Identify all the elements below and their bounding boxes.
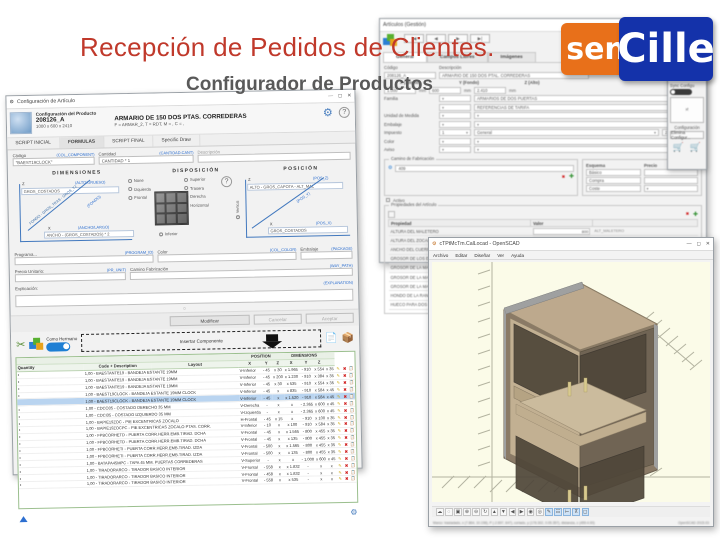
row-copy-icon[interactable]: 📋 xyxy=(350,421,355,426)
cad-close-icon[interactable]: ✕ xyxy=(706,241,710,247)
tab-script-inicial[interactable]: SCRIPT INICIAL xyxy=(7,137,60,149)
row-delete-icon[interactable]: ✖ xyxy=(343,421,348,426)
row-delete-icon[interactable]: ✖ xyxy=(342,366,347,371)
explicacion-tag: (EXPLANATION) xyxy=(323,280,353,286)
impuesto-code-select[interactable]: 1 xyxy=(439,129,471,136)
radio-izquierda-label: Izquierda xyxy=(134,186,151,191)
cad-window-title: cTPtMcTm.CalLocad - OpenSCAD xyxy=(439,241,686,247)
propiedades-caption: Propiedades del Artículo xyxy=(389,202,438,207)
config-header-dims: 1000 x 600 x 2410 xyxy=(36,123,97,129)
col-propiedad: Propiedad xyxy=(389,220,531,227)
esquema-label: Esquema xyxy=(586,163,640,168)
row-delete-icon[interactable]: ✖ xyxy=(344,442,349,447)
row-edit-icon[interactable]: ✎ xyxy=(338,476,343,481)
esquema-basico-label: Básico xyxy=(586,169,641,176)
modificar-action-button[interactable]: Modificar xyxy=(170,315,250,327)
cancelar-action-button[interactable]: Cancelar xyxy=(254,314,302,325)
view-right-icon[interactable]: ▶ xyxy=(518,508,526,516)
propiedades-toolbar[interactable]: ✖ ✚ xyxy=(388,211,698,218)
zoom-fit-icon[interactable]: ▣ xyxy=(454,508,462,516)
view-left-icon[interactable]: ◀ xyxy=(509,508,517,516)
view-top-icon[interactable]: ▲ xyxy=(491,508,499,516)
tab-formulas[interactable]: FORMULAS xyxy=(60,137,104,149)
menu-ayuda[interactable]: Ayuda xyxy=(511,253,524,258)
camino-fabricacion-group[interactable]: Camino de Fabricación ⚙ 409 ✖ ✚ xyxy=(384,159,578,196)
disposicion-left-options[interactable]: None Izquierda Frontal xyxy=(128,178,151,204)
radio-trasera[interactable]: Trasera xyxy=(184,185,209,190)
cad-titlebar: ⚙ cTPtMcTm.CalLocad - OpenSCAD — ◻ ✕ xyxy=(429,238,713,251)
aviso-label: Aviso xyxy=(384,147,436,152)
embalaje-label: Embalaje xyxy=(384,122,436,127)
camino-input[interactable]: 409 xyxy=(395,165,574,172)
row-dim-z: x xyxy=(327,476,337,483)
row-copy-icon[interactable]: 📋 xyxy=(350,435,355,440)
radio-trasera-label: Trasera xyxy=(190,185,204,190)
color-label: Color xyxy=(384,139,436,144)
row-edit-icon[interactable]: ✎ xyxy=(337,435,342,440)
sidebar-furniture-icons[interactable]: 🛒 🛒 xyxy=(670,142,704,153)
menu-archivo[interactable]: Archivo xyxy=(433,253,448,258)
col-valor: Valor xyxy=(531,220,593,227)
configuracion-preview[interactable]: 🖹 xyxy=(670,97,704,123)
row-copy-icon[interactable]: 📋 xyxy=(350,456,355,461)
embalaje-select[interactable] xyxy=(439,121,471,128)
show-edges-icon[interactable]: ✎ xyxy=(545,508,553,516)
row-copy-icon[interactable]: 📋 xyxy=(350,428,355,433)
esquema-compra-label: Compra xyxy=(586,177,641,184)
unidad-select[interactable] xyxy=(439,112,471,119)
familia-select[interactable]: ARMARIOS DE DOS PUERTAS xyxy=(474,95,692,102)
menu-disenar[interactable]: Diseñar xyxy=(474,253,490,258)
row-copy-icon[interactable]: 📋 xyxy=(349,401,354,406)
pos-x-tag: (POS_X) xyxy=(316,220,332,225)
row-delete-icon[interactable]: ✖ xyxy=(343,428,348,433)
radio-none-label: None xyxy=(134,178,144,183)
radio-superior-label: Superior xyxy=(190,177,206,182)
row-copy-icon[interactable]: 📋 xyxy=(349,380,354,385)
row-delete-icon[interactable]: ✖ xyxy=(342,380,347,385)
reset-view-icon[interactable]: ↻ xyxy=(481,508,489,516)
row-edit-icon[interactable]: ✎ xyxy=(337,463,342,468)
como-hermano-control[interactable]: Como Hermano xyxy=(46,336,77,352)
row-delete-icon[interactable]: ✖ xyxy=(343,394,348,399)
row-referencia[interactable]: REFERENCIAS DE TARIFA xyxy=(384,104,702,111)
row-copy-icon[interactable]: 📋 xyxy=(349,387,354,392)
radio-frontal[interactable]: Frontal xyxy=(128,195,151,200)
programa-input[interactable] xyxy=(14,255,153,266)
row-edit-icon[interactable]: ✎ xyxy=(337,449,342,454)
row-expander[interactable]: ▪ xyxy=(19,480,86,488)
camino-add-icon[interactable]: ✚ xyxy=(569,173,574,180)
config-articulo-window[interactable]: ⚙ Configuración de Artículo — ◻ ✕ Config… xyxy=(5,89,362,476)
radio-inferior-label: Inferior xyxy=(165,231,178,236)
esquema-coste-select[interactable] xyxy=(644,185,699,192)
disposicion-panel[interactable]: None Izquierda Frontal Superior Trasera … xyxy=(128,174,225,248)
familia-label: Familia xyxy=(384,96,436,101)
dimensiones-panel[interactable]: Z (ALTO/GRUESO) GROS_COSTADOS FONDO - GR… xyxy=(13,176,125,250)
row-copy-icon[interactable]: 📋 xyxy=(350,442,355,447)
dim-x-letter: X xyxy=(48,226,51,231)
cad-app-icon: ⚙ xyxy=(432,241,436,247)
embalaje-desc-select[interactable] xyxy=(474,121,692,128)
radio-frontal-label: Frontal xyxy=(134,195,147,200)
package-icon[interactable]: 📦 xyxy=(342,332,355,343)
referencia-code-select[interactable] xyxy=(439,104,471,111)
row-delete-icon[interactable]: ✖ xyxy=(344,449,349,454)
show-crosshairs-icon[interactable]: ☷ xyxy=(554,508,562,516)
show-axes-icon[interactable]: ⊢ xyxy=(563,508,571,516)
row-pos-y: x xyxy=(274,477,286,484)
menu-editar[interactable]: Editar xyxy=(455,253,467,258)
row-dim-y: x xyxy=(315,476,327,483)
property-name: ALTURA DEL MALETERO xyxy=(389,227,531,236)
row-edit-icon[interactable]: ✎ xyxy=(337,442,342,447)
row-delete-icon[interactable]: ✖ xyxy=(343,401,348,406)
property-variable: ALT_MALETERO xyxy=(592,227,697,236)
property-add-icon[interactable]: ✚ xyxy=(693,211,698,218)
properties-grid-icon[interactable] xyxy=(388,211,395,218)
radio-derecha-label: Derecha xyxy=(190,194,206,199)
cabinet-3d-model[interactable] xyxy=(432,262,710,502)
row-edit-icon[interactable]: ✎ xyxy=(337,421,342,426)
slide-root: Artículos (Gestión) — ◻ ✕ |◀ ◀ ▶ ▶| ARMA… xyxy=(0,0,720,540)
config-doc-icon: 🖹 xyxy=(685,107,688,114)
posicion-panel[interactable]: ? Z (POS_Z) ALTO - GROS_CAPOTA - ALT_MAL… xyxy=(227,172,352,246)
posicion-help-icon[interactable]: ? xyxy=(221,176,232,187)
dimensiones-axis-diagram: Z (ALTO/GRUESO) GROS_COSTADOS FONDO - GR… xyxy=(13,176,125,250)
color-desc-select[interactable] xyxy=(474,138,692,145)
property-delete-icon[interactable]: ✖ xyxy=(685,211,690,216)
property-value[interactable]: 800 xyxy=(531,227,593,236)
tab-script-final[interactable]: SCRIPT FINAL xyxy=(104,136,154,148)
precio-field[interactable]: Precio Unitario: (PR_UNIT) xyxy=(15,267,127,282)
codigo-label: Código xyxy=(384,65,436,70)
row-edit-icon[interactable]: ✎ xyxy=(337,456,342,461)
row-copy-icon[interactable]: 📋 xyxy=(350,449,355,454)
row-edit-icon[interactable]: ✎ xyxy=(336,408,341,413)
config-panels[interactable]: Z (ALTO/GRUESO) GROS_COSTADOS FONDO - GR… xyxy=(8,172,357,251)
cad-window[interactable]: ⚙ cTPtMcTm.CalLocad - OpenSCAD — ◻ ✕ Arc… xyxy=(428,237,714,527)
cad-menubar[interactable]: Archivo Editar Diseñar Ver Ayuda xyxy=(429,251,713,260)
row-copy-icon[interactable]: 📋 xyxy=(349,366,354,371)
page-subtitle: Configurador de Productos xyxy=(186,74,606,96)
row-delete-icon[interactable]: ✖ xyxy=(343,435,348,440)
vertical-radio[interactable]: Vertical xyxy=(236,201,240,220)
row-edit-icon[interactable]: ✎ xyxy=(336,394,341,399)
zoom-in-icon[interactable]: ⊕ xyxy=(463,508,471,516)
dim-y-tag: (FONDO) xyxy=(86,194,102,208)
components-table[interactable]: POSITION DIMENSIONS QuantityCode + Descr… xyxy=(16,352,356,489)
pos-x-input[interactable]: GROS_COSTADOS xyxy=(268,226,348,235)
unidad-label: Unidad de Medida xyxy=(384,113,436,118)
vertical-label: Vertical xyxy=(236,201,240,214)
zoom-out-icon[interactable]: ⊖ xyxy=(472,508,480,516)
view-ortho-icon[interactable]: ◌ xyxy=(445,508,453,516)
row-delete-icon[interactable]: ✖ xyxy=(344,456,349,461)
precio-unitario-input[interactable] xyxy=(15,272,126,282)
aviso-select[interactable] xyxy=(439,146,471,153)
page-title: Recepción de Pedidos de Clientes. xyxy=(80,32,500,63)
row-edit-icon[interactable]: ✎ xyxy=(337,415,342,420)
tools-icon[interactable]: ✂ xyxy=(16,338,25,351)
row-delete-icon[interactable]: ✖ xyxy=(342,373,347,378)
sync-config-label: Sync Configu xyxy=(670,83,704,88)
row-impuesto[interactable]: Impuesto 1 General 21,00% xyxy=(384,129,702,136)
row-delete-icon[interactable]: ✖ xyxy=(343,387,348,392)
row-copy-icon[interactable]: 📋 xyxy=(349,394,354,399)
esquema-row-compra[interactable]: Compra xyxy=(586,177,698,184)
explicacion-label: Explicación: xyxy=(15,286,38,291)
expand-up-icon[interactable] xyxy=(19,516,27,522)
row-copy-icon[interactable]: 📋 xyxy=(351,469,356,474)
elimina-config-button[interactable]: Elimina Configur... xyxy=(670,131,704,139)
esquema-coste-label: Coste xyxy=(586,185,641,192)
camino-delete-icon[interactable]: ✖ xyxy=(561,174,566,179)
row-copy-icon[interactable]: 📋 xyxy=(349,373,354,378)
row-pos-z: x 535 xyxy=(286,476,301,483)
sync-config-toggle[interactable] xyxy=(670,89,692,95)
logo-cille: Cille xyxy=(619,17,713,81)
cad-toolbar[interactable]: ☁ ◌ ▣ ⊕ ⊖ ↻ ▲ ▼ ◀ ▶ ◉ ◎ ✎ ☷ ⊢ ⊼ ◻ xyxy=(432,506,710,518)
properties-header-row: Propiedad Valor xyxy=(389,220,698,227)
embalaje-field[interactable]: Embalaje (PACKAGE) xyxy=(300,246,352,260)
components-grid[interactable]: POSITION DIMENSIONS QuantityCode + Descr… xyxy=(15,351,358,509)
row-edit-icon[interactable]: ✎ xyxy=(336,373,341,378)
impuesto-label: Impuesto xyxy=(384,130,436,135)
component-cubes-icon[interactable] xyxy=(29,337,42,350)
product-image-thumb xyxy=(10,112,32,134)
furniture-delete-icon[interactable]: 🛒 xyxy=(690,142,701,153)
config-embalaje-input[interactable] xyxy=(300,251,352,260)
camino-row[interactable]: ⚙ 409 xyxy=(388,165,574,172)
camino-actions[interactable]: ✖ ✚ xyxy=(388,173,574,180)
cad-window-controls[interactable]: — ◻ ✕ xyxy=(687,241,710,247)
cad-status-left: Marco: trasladado, x (7.864, 10.198), P … xyxy=(433,521,595,525)
row-copy-icon[interactable]: 📋 xyxy=(349,407,354,412)
row-delete-icon[interactable]: ✖ xyxy=(344,463,349,468)
aceptar-action-button[interactable]: Aceptar xyxy=(306,313,354,324)
color-select[interactable] xyxy=(439,138,471,145)
config-footer[interactable]: ⚙ xyxy=(14,506,362,528)
row-copy-icon[interactable]: 📋 xyxy=(350,462,355,467)
dim-x-input[interactable]: ANCHO - (GROS_COSTADOS) * 2 xyxy=(44,230,134,239)
row-edit-icon[interactable]: ✎ xyxy=(336,380,341,385)
posicion-axis-diagram: Z (POS_Z) ALTO - GROS_CAPOTA - ALT_MAL (… xyxy=(239,172,352,246)
color-field[interactable]: Color (COL_COLOR) xyxy=(157,247,296,263)
tab-specific-draw[interactable]: Specific Draw xyxy=(153,135,200,147)
pos-x-letter: X xyxy=(270,221,273,226)
dim-z-letter: Z xyxy=(22,181,25,186)
impuesto-tipo-select[interactable]: General xyxy=(474,129,659,136)
row-familia[interactable]: Familia ARMARIOS DE DOS PUERTAS xyxy=(384,95,702,102)
config-window-icon: ⚙ xyxy=(9,99,14,105)
row-edit-icon[interactable]: ✎ xyxy=(336,387,341,392)
familia-code-select[interactable] xyxy=(439,95,471,102)
radio-superior[interactable]: Superior xyxy=(184,177,209,182)
radio-inferior[interactable]: Inferior xyxy=(159,231,178,236)
referencia-select[interactable]: REFERENCIAS DE TARIFA xyxy=(474,104,692,111)
row-delete-icon[interactable]: ✖ xyxy=(344,469,349,474)
unidad-desc-select[interactable] xyxy=(474,112,692,119)
row-edit-icon[interactable]: ✎ xyxy=(336,401,341,406)
orientation-cube-icon[interactable] xyxy=(154,191,189,226)
config-help-icon[interactable]: ? xyxy=(339,107,350,118)
view-bottom-icon[interactable]: ▼ xyxy=(500,508,508,516)
row-copy-icon[interactable]: 📋 xyxy=(351,476,356,481)
view-back-icon[interactable]: ◎ xyxy=(536,508,544,516)
como-hermano-label: Como Hermano xyxy=(46,336,77,342)
furniture-icon[interactable]: 🛒 xyxy=(673,142,684,153)
dim-x-tag: (ANCHO/LARGO) xyxy=(78,224,109,230)
menu-ver[interactable]: Ver xyxy=(497,253,504,258)
footer-settings-icon[interactable]: ⚙ xyxy=(350,508,357,517)
show-wireframe-icon[interactable]: ◻ xyxy=(582,508,590,516)
cad-statusbar: Marco: trasladado, x (7.864, 10.198), P … xyxy=(433,521,709,525)
row-edit-icon[interactable]: ✎ xyxy=(336,366,341,371)
row-edit-icon[interactable]: ✎ xyxy=(337,428,342,433)
row-pos-x: - 558 xyxy=(263,477,274,484)
radio-none[interactable]: None xyxy=(128,178,151,183)
cad-minimize-icon[interactable]: — xyxy=(687,241,692,247)
radio-horizontal-label: Horizontal xyxy=(190,202,209,207)
row-dim-x: - xyxy=(301,476,316,483)
row-copy-icon[interactable]: 📋 xyxy=(350,414,355,419)
config-color-input[interactable] xyxy=(157,252,296,263)
camino-link-icon: ⚙ xyxy=(388,165,392,171)
como-hermano-toggle[interactable] xyxy=(46,342,70,351)
row-aviso[interactable]: Aviso xyxy=(384,146,702,153)
cad-viewport[interactable] xyxy=(432,262,710,502)
pdf-icon[interactable]: 📄 xyxy=(325,333,338,344)
config-wizard-icon[interactable]: ⚙ xyxy=(323,106,333,119)
insertar-componente-label: Insertar Componente xyxy=(180,338,223,344)
row-actions[interactable]: ✎✖📋 xyxy=(337,475,357,482)
programa-field[interactable]: Programa... (PROGRAM_ID) xyxy=(14,250,153,266)
cad-status-right: OpenSCAD 2015.03 xyxy=(678,521,709,525)
row-unidad[interactable]: Unidad de Medida xyxy=(384,112,702,119)
view-front-icon[interactable]: ◉ xyxy=(527,508,535,516)
camino-group-caption: Camino de Fabricación xyxy=(389,156,436,161)
cad-maximize-icon[interactable]: ◻ xyxy=(697,241,701,247)
row-edit-icon[interactable]: ✎ xyxy=(338,470,343,475)
row-embalaje[interactable]: Embalaje xyxy=(384,121,702,128)
pos-z-letter: Z xyxy=(248,177,251,182)
esquema-compra-input[interactable] xyxy=(644,177,699,184)
show-scale-icon[interactable]: ⊼ xyxy=(572,508,580,516)
col-variable xyxy=(592,220,697,227)
row-layout: V-Frontal xyxy=(241,477,263,484)
row-delete-icon[interactable]: ✖ xyxy=(344,476,349,481)
property-row[interactable]: ALTURA DEL MALETERO800ALT_MALETERO xyxy=(389,227,698,236)
radio-izquierda[interactable]: Izquierda xyxy=(128,186,151,191)
insertar-componente-button[interactable]: Insertar Componente xyxy=(81,329,321,352)
view-perspective-icon[interactable]: ☁ xyxy=(436,508,444,516)
code-input[interactable]: "BAEST19CLOCK" xyxy=(13,157,95,167)
esquema-row-coste[interactable]: Coste xyxy=(586,185,698,192)
row-delete-icon[interactable]: ✖ xyxy=(343,414,348,419)
row-delete-icon[interactable]: ✖ xyxy=(343,408,348,413)
aviso-desc-select[interactable] xyxy=(474,146,692,153)
pos-z-input[interactable]: ALTO - GROS_CAPOTA - ALT_MAL xyxy=(247,182,343,191)
row-color[interactable]: Color xyxy=(384,138,702,145)
